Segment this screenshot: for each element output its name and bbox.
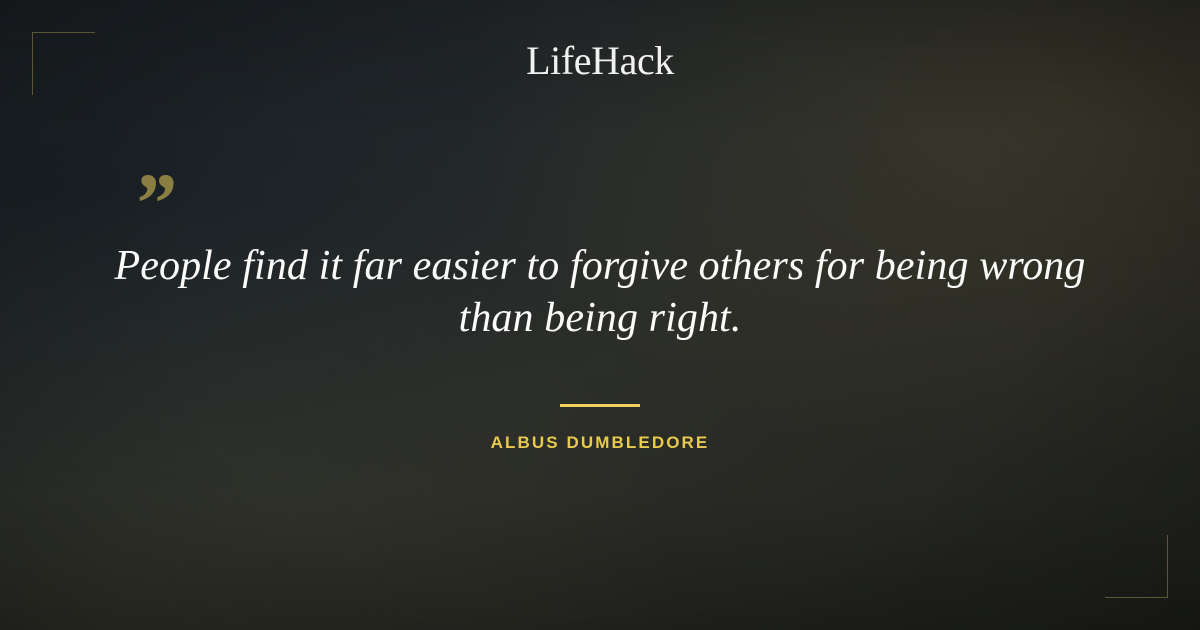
corner-bracket-bottom-right-icon bbox=[1105, 535, 1168, 598]
quote-card: LifeHack ” People find it far easier to … bbox=[0, 0, 1200, 630]
quote-author: ALBUS DUMBLEDORE bbox=[110, 432, 1090, 454]
brand-logo: LifeHack bbox=[0, 38, 1200, 84]
quote-text: People find it far easier to forgive oth… bbox=[110, 240, 1090, 344]
divider-rule bbox=[560, 404, 640, 407]
quotation-mark-icon: ” bbox=[132, 160, 171, 246]
quote-block: People find it far easier to forgive oth… bbox=[110, 240, 1090, 454]
